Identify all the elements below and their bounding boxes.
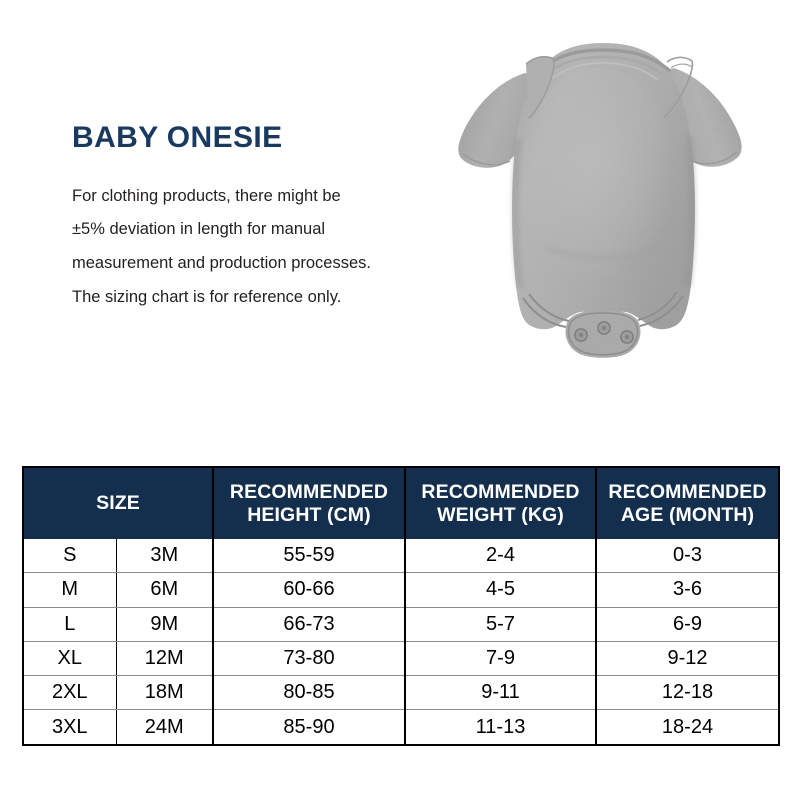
cell-weight: 9-11 — [405, 676, 596, 710]
cell-weight: 5-7 — [405, 607, 596, 641]
cell-month: 9M — [116, 607, 213, 641]
cell-height: 85-90 — [213, 710, 405, 745]
onesie-body — [458, 43, 741, 358]
description-line-4: The sizing chart is for reference only. — [72, 281, 432, 315]
description-text: For clothing products, there might be ±5… — [72, 180, 432, 315]
cell-age: 6-9 — [596, 607, 779, 641]
cell-age: 12-18 — [596, 676, 779, 710]
cell-month: 18M — [116, 676, 213, 710]
cell-height: 60-66 — [213, 573, 405, 607]
cell-size: M — [23, 573, 116, 607]
cell-size: S — [23, 539, 116, 573]
cell-month: 12M — [116, 641, 213, 675]
fabric-highlight — [520, 68, 676, 288]
cell-weight: 7-9 — [405, 641, 596, 675]
cell-height: 66-73 — [213, 607, 405, 641]
column-header-weight-line2: WEIGHT (KG) — [437, 504, 564, 526]
cell-size: XL — [23, 641, 116, 675]
cell-size: 2XL — [23, 676, 116, 710]
snap-center-2 — [602, 326, 606, 330]
cell-weight: 11-13 — [405, 710, 596, 745]
column-header-age-line1: RECOMMENDED — [608, 481, 766, 503]
cell-month: 3M — [116, 539, 213, 573]
snap-center-3 — [625, 335, 629, 339]
cell-age: 9-12 — [596, 641, 779, 675]
cell-height: 80-85 — [213, 676, 405, 710]
cell-size: 3XL — [23, 710, 116, 745]
column-header-height-line1: RECOMMENDED — [230, 481, 388, 503]
cell-weight: 2-4 — [405, 539, 596, 573]
table-body: S 3M 55-59 2-4 0-3 M 6M 60-66 4-5 3-6 L … — [23, 539, 779, 745]
column-header-weight-line1: RECOMMENDED — [421, 481, 579, 503]
description-line-1: For clothing products, there might be — [72, 180, 432, 214]
table-header-row: SIZE RECOMMENDED HEIGHT (CM) RECOMMENDED… — [23, 467, 779, 539]
cell-height: 73-80 — [213, 641, 405, 675]
size-chart-table: SIZE RECOMMENDED HEIGHT (CM) RECOMMENDED… — [22, 466, 780, 746]
column-header-age: RECOMMENDED AGE (MONTH) — [596, 467, 779, 539]
description-line-3: measurement and production processes. — [72, 247, 432, 281]
table-row: S 3M 55-59 2-4 0-3 — [23, 539, 779, 573]
table-row: L 9M 66-73 5-7 6-9 — [23, 607, 779, 641]
cell-month: 6M — [116, 573, 213, 607]
cell-age: 0-3 — [596, 539, 779, 573]
cell-height: 55-59 — [213, 539, 405, 573]
info-block: BABY ONESIE For clothing products, there… — [72, 122, 432, 315]
page-title: BABY ONESIE — [72, 122, 432, 154]
column-header-height: RECOMMENDED HEIGHT (CM) — [213, 467, 405, 539]
cell-month: 24M — [116, 710, 213, 745]
table-row: 2XL 18M 80-85 9-11 12-18 — [23, 676, 779, 710]
baby-onesie-image — [430, 18, 780, 458]
column-header-height-line2: HEIGHT (CM) — [247, 504, 371, 526]
column-header-weight: RECOMMENDED WEIGHT (KG) — [405, 467, 596, 539]
cell-age: 18-24 — [596, 710, 779, 745]
onesie-illustration — [430, 18, 780, 458]
cell-size: L — [23, 607, 116, 641]
right-shoulder-stitch — [671, 64, 692, 68]
table-header: SIZE RECOMMENDED HEIGHT (CM) RECOMMENDED… — [23, 467, 779, 539]
column-header-age-line2: AGE (MONTH) — [621, 504, 754, 526]
table-row: M 6M 60-66 4-5 3-6 — [23, 573, 779, 607]
table-row: XL 12M 73-80 7-9 9-12 — [23, 641, 779, 675]
description-line-2: ±5% deviation in length for manual — [72, 213, 432, 247]
table-row: 3XL 24M 85-90 11-13 18-24 — [23, 710, 779, 745]
column-header-size: SIZE — [23, 467, 213, 539]
cell-age: 3-6 — [596, 573, 779, 607]
cell-weight: 4-5 — [405, 573, 596, 607]
snap-center-1 — [579, 333, 583, 337]
